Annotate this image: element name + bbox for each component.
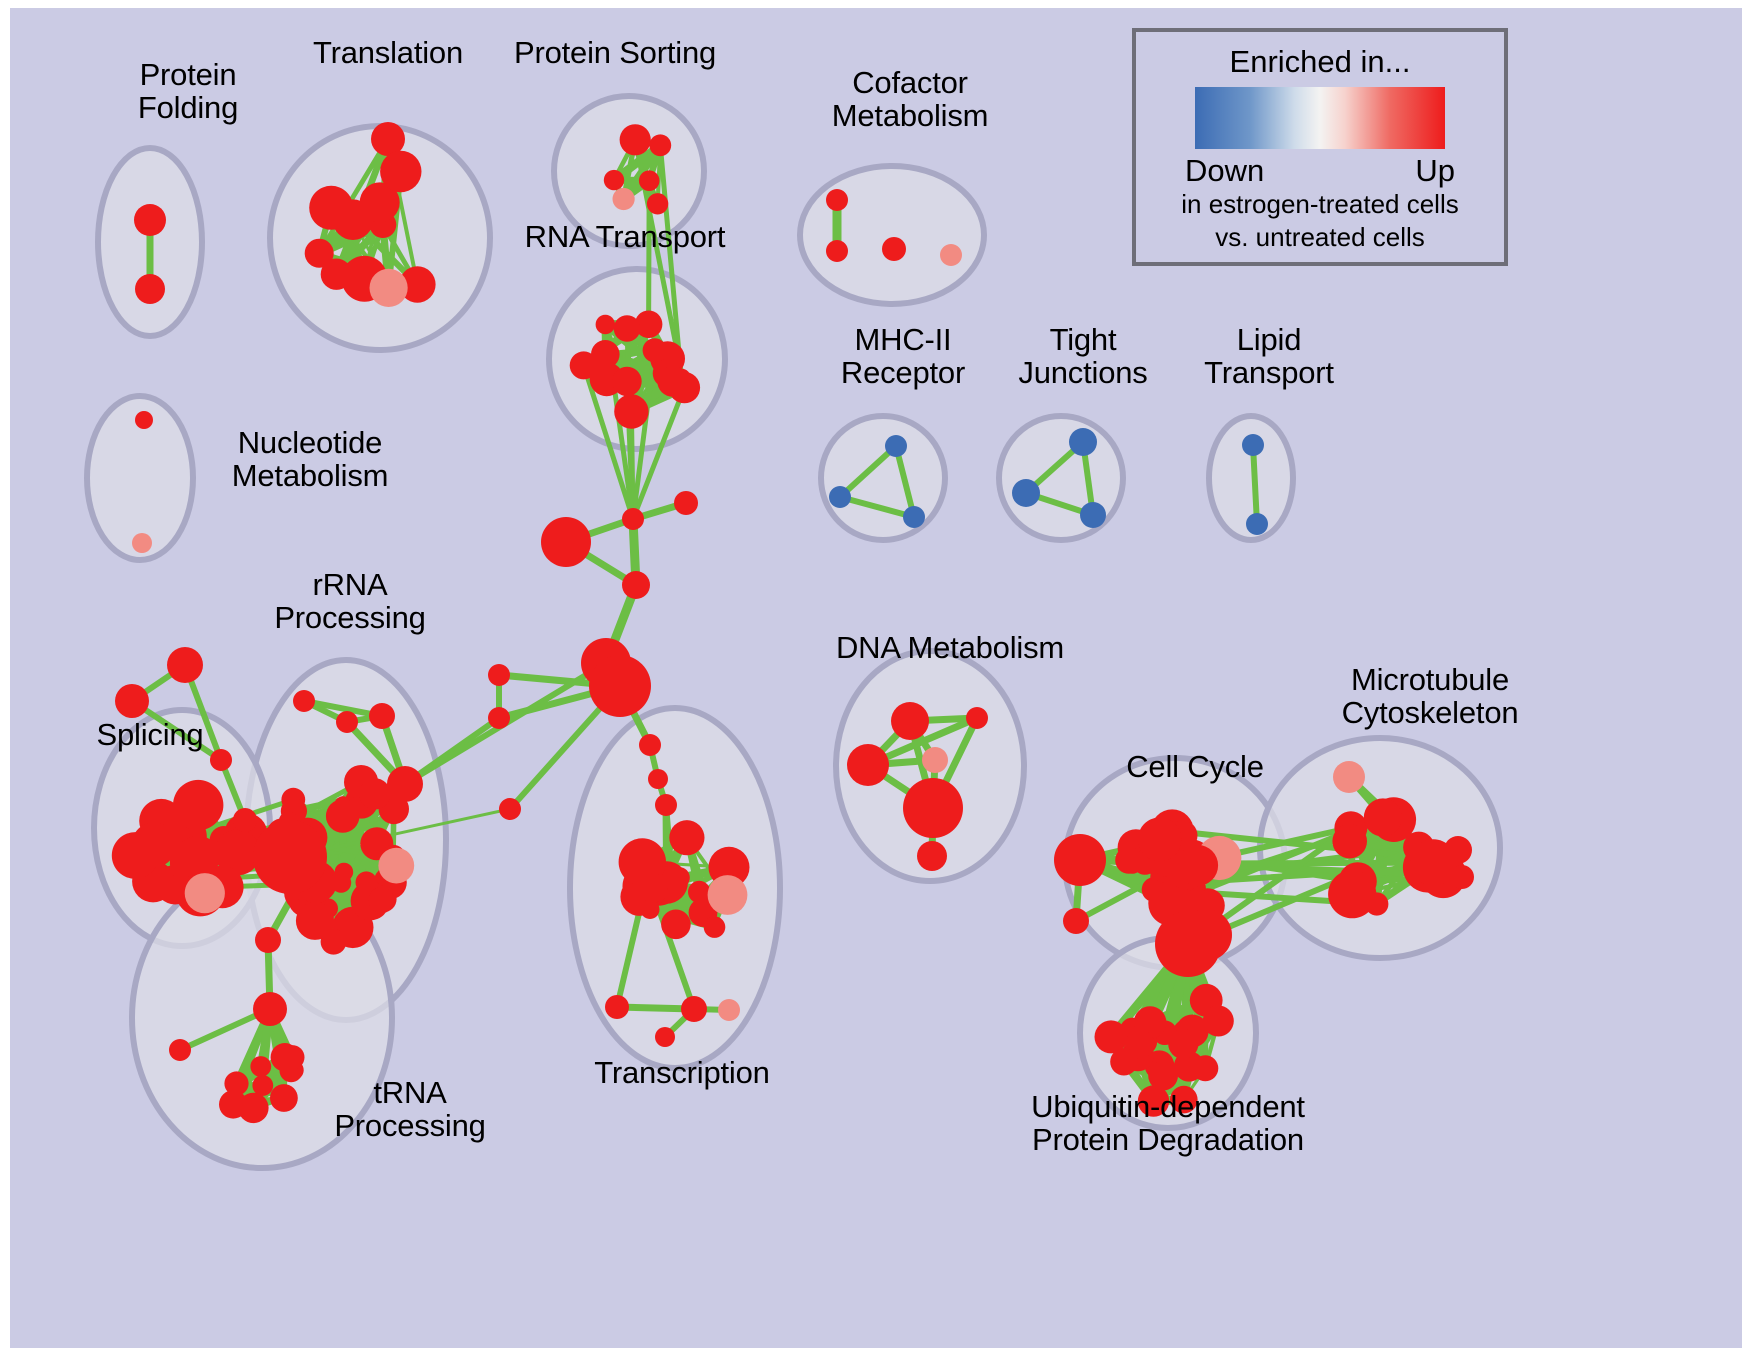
network-node	[903, 778, 963, 838]
network-node	[1069, 428, 1097, 456]
network-node	[1168, 1029, 1198, 1059]
cluster-label-cell-cycle: Cell Cycle	[1100, 750, 1290, 783]
cluster-label-splicing: Splicing	[65, 718, 235, 751]
network-node	[718, 999, 740, 1021]
cluster-label-dna-metabolism: DNA Metabolism	[820, 631, 1080, 664]
network-node	[661, 910, 691, 940]
network-node	[647, 193, 668, 214]
cluster-ellipse-cofactor-metabolism	[800, 166, 984, 304]
network-node	[1063, 908, 1089, 934]
network-node	[638, 873, 667, 902]
network-node	[1080, 502, 1106, 528]
network-node	[167, 647, 203, 683]
network-node	[1115, 847, 1142, 874]
network-node	[614, 315, 641, 342]
network-node	[847, 744, 889, 786]
network-node	[708, 875, 748, 915]
network-node	[333, 199, 374, 240]
network-node	[612, 367, 641, 396]
network-node	[681, 996, 707, 1022]
network-node	[704, 916, 726, 938]
network-node	[488, 664, 510, 686]
network-node	[1246, 513, 1268, 535]
network-node	[1110, 1048, 1137, 1075]
network-node	[1328, 870, 1376, 918]
figure-canvas: Protein FoldingTranslationProtein Sortin…	[0, 0, 1750, 1360]
legend-subtitle-line1: in estrogen-treated cells	[1181, 190, 1458, 219]
network-node	[826, 189, 848, 211]
network-node	[169, 1039, 191, 1061]
network-node	[639, 170, 660, 191]
network-node	[622, 571, 650, 599]
network-node	[219, 1090, 247, 1118]
cluster-label-ubiquitin-protein-degradation: Ubiquitin-dependent Protein Degradation	[998, 1090, 1338, 1157]
network-node	[641, 900, 660, 919]
network-node	[669, 867, 690, 888]
network-node	[177, 836, 220, 879]
network-node	[293, 690, 315, 712]
network-node	[1333, 761, 1365, 793]
network-node	[589, 655, 651, 717]
network-node	[657, 366, 688, 397]
network-node	[613, 188, 635, 210]
network-panel: Protein FoldingTranslationProtein Sortin…	[10, 8, 1742, 1348]
network-node	[620, 124, 651, 155]
network-node	[1450, 865, 1474, 889]
network-node	[966, 707, 988, 729]
network-node	[499, 798, 521, 820]
network-node	[252, 1075, 273, 1096]
network-node	[605, 995, 629, 1019]
network-node	[1148, 1061, 1178, 1091]
legend-down-label: Down	[1185, 155, 1264, 186]
network-node	[1364, 798, 1402, 836]
cluster-label-lipid-transport: Lipid Transport	[1174, 323, 1364, 390]
network-node	[253, 820, 327, 894]
network-node	[940, 244, 962, 266]
network-node	[648, 769, 668, 789]
network-node	[135, 411, 153, 429]
cluster-label-mhc-ii-receptor: MHC-II Receptor	[808, 323, 998, 390]
network-node	[387, 766, 423, 802]
network-node	[669, 820, 704, 855]
network-node	[185, 873, 225, 913]
network-node	[1444, 836, 1472, 864]
network-node	[1183, 849, 1217, 883]
cluster-label-transcription: Transcription	[572, 1056, 792, 1089]
network-node	[882, 237, 906, 261]
network-node	[134, 204, 166, 236]
network-node	[922, 747, 948, 773]
network-node	[253, 992, 287, 1026]
legend-box: Enriched in... Down Up in estrogen-treat…	[1132, 28, 1508, 266]
cluster-label-trna-processing: tRNA Processing	[310, 1076, 510, 1143]
network-node	[1054, 834, 1106, 886]
network-node	[369, 703, 395, 729]
network-node	[639, 734, 661, 756]
network-node	[1242, 434, 1264, 456]
network-node	[132, 822, 177, 867]
network-node	[674, 491, 698, 515]
network-node	[596, 315, 615, 334]
network-node	[135, 274, 165, 304]
legend-up-label: Up	[1415, 155, 1455, 186]
legend-endpoint-labels: Down Up	[1185, 155, 1455, 186]
network-node	[891, 702, 929, 740]
cluster-label-rna-transport: RNA Transport	[510, 220, 740, 253]
cluster-label-protein-sorting: Protein Sorting	[500, 36, 730, 69]
network-node	[649, 134, 671, 156]
cluster-label-protein-folding: Protein Folding	[88, 58, 288, 125]
network-node	[655, 794, 677, 816]
network-node	[255, 927, 281, 953]
network-node	[378, 848, 414, 884]
network-node	[643, 338, 667, 362]
network-node	[280, 1045, 304, 1069]
network-node	[1332, 824, 1367, 859]
cluster-label-microtubule-cytoskeleton: Microtubule Cytoskeleton	[1310, 663, 1550, 730]
network-node	[336, 711, 358, 733]
network-node	[335, 863, 354, 882]
cluster-label-rrna-processing: rRNA Processing	[250, 568, 450, 635]
network-node	[250, 1056, 271, 1077]
network-node	[541, 517, 591, 567]
network-node	[829, 486, 851, 508]
cluster-ellipse-tight-junctions	[999, 416, 1123, 540]
cluster-label-cofactor-metabolism: Cofactor Metabolism	[800, 66, 1020, 133]
network-node	[233, 808, 257, 832]
network-node	[614, 394, 648, 428]
cluster-label-translation: Translation	[288, 36, 488, 69]
network-node	[885, 435, 907, 457]
network-node	[903, 506, 925, 528]
network-node	[826, 240, 848, 262]
network-node	[1012, 479, 1040, 507]
network-node	[115, 684, 149, 718]
network-node	[305, 239, 334, 268]
network-node	[296, 902, 334, 940]
network-node	[1138, 817, 1182, 861]
network-node	[270, 1084, 298, 1112]
legend-title: Enriched in...	[1230, 46, 1411, 77]
network-node	[132, 533, 152, 553]
network-node	[622, 508, 644, 530]
network-node	[173, 780, 223, 830]
network-node	[655, 1027, 675, 1047]
network-node	[369, 887, 395, 913]
network-node	[210, 749, 232, 771]
cluster-label-nucleotide-metabolism: Nucleotide Metabolism	[200, 426, 420, 493]
network-node	[359, 778, 390, 809]
network-node	[604, 170, 624, 190]
legend-color-gradient-bar	[1195, 87, 1445, 149]
legend-subtitle-line2: vs. untreated cells	[1215, 223, 1425, 252]
network-node	[1192, 1055, 1218, 1081]
network-node	[488, 707, 510, 729]
network-node	[370, 269, 408, 307]
network-node	[380, 151, 421, 192]
cluster-label-tight-junctions: Tight Junctions	[988, 323, 1178, 390]
network-node	[1180, 909, 1232, 961]
network-edge	[1253, 445, 1257, 524]
cluster-ellipse-mhc-ii-receptor	[821, 416, 945, 540]
network-node	[326, 799, 360, 833]
network-node	[917, 841, 947, 871]
